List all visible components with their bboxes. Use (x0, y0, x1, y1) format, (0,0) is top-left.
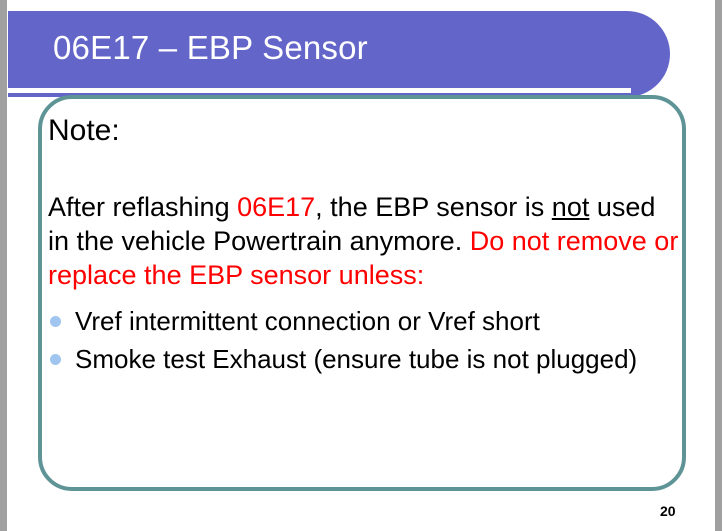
slide: 06E17 – EBP Sensor Note: After reflashin… (0, 0, 725, 531)
note-heading: Note: (48, 112, 682, 150)
code-06e17: 06E17 (237, 192, 315, 222)
list-item: Smoke test Exhaust (ensure tube is not p… (48, 340, 682, 378)
bullet-dot-icon (50, 354, 61, 365)
title-banner: 06E17 – EBP Sensor (8, 11, 670, 97)
paragraph-part-1: After reflashing (48, 192, 237, 222)
note-paragraph: After reflashing 06E17, the EBP sensor i… (48, 190, 680, 292)
left-gutter (0, 0, 7, 531)
bullet-list: Vref intermittent connection or Vref sho… (48, 302, 682, 378)
list-item-label: Smoke test Exhaust (ensure tube is not p… (75, 344, 637, 374)
list-item: Vref intermittent connection or Vref sho… (48, 302, 682, 340)
right-gutter (715, 0, 722, 531)
emphasis-not: not (552, 192, 590, 222)
list-item-label: Vref intermittent connection or Vref sho… (75, 306, 540, 336)
paragraph-part-2: , the EBP sensor is (315, 192, 552, 222)
bullet-dot-icon (50, 316, 61, 327)
title-underline-rule (8, 88, 631, 93)
slide-title: 06E17 – EBP Sensor (53, 29, 368, 67)
page-number: 20 (660, 503, 676, 519)
slide-body: Note: After reflashing 06E17, the EBP se… (48, 112, 682, 378)
